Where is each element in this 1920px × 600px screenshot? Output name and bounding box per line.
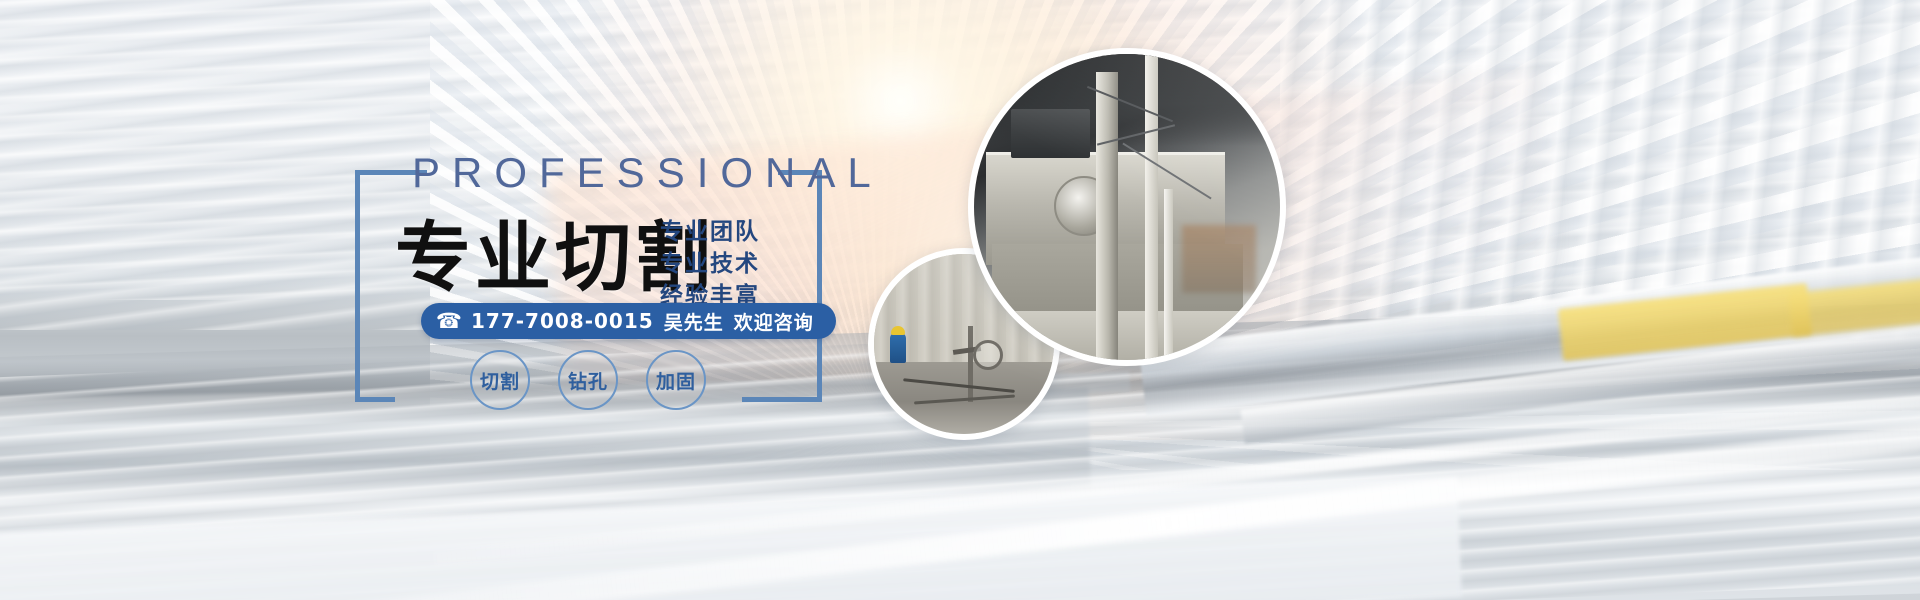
contact-cta-text: 欢迎咨询 <box>734 308 814 335</box>
banner-content: PROFESSIONAL 专业切割 专业团队 专业技术 经验丰富 ☎ 177-7… <box>0 0 1920 600</box>
service-chip-list: 切割 钻孔 加固 <box>470 350 706 410</box>
frame-corner-bottom-right <box>742 397 822 402</box>
feature-item: 专业技术 <box>660 251 760 277</box>
frame-edge-left <box>355 170 360 402</box>
phone-number[interactable]: 177-7008-0015 <box>471 309 654 333</box>
promo-banner: PROFESSIONAL 专业切割 专业团队 专业技术 经验丰富 ☎ 177-7… <box>0 0 1920 600</box>
feature-item: 专业团队 <box>660 219 760 245</box>
service-chip-cutting[interactable]: 切割 <box>470 350 530 410</box>
telephone-icon: ☎ <box>437 310 461 332</box>
frame-corner-bottom-left <box>355 397 395 402</box>
service-chip-reinforcement[interactable]: 加固 <box>646 350 706 410</box>
contact-person-name: 吴先生 <box>664 308 724 335</box>
eyebrow-text: PROFESSIONAL <box>412 152 883 194</box>
frame-edge-right <box>817 170 822 402</box>
service-chip-drilling[interactable]: 钻孔 <box>558 350 618 410</box>
feature-list: 专业团队 专业技术 经验丰富 <box>660 219 760 309</box>
contact-phone-bar[interactable]: ☎ 177-7008-0015 吴先生 欢迎咨询 <box>421 303 836 339</box>
